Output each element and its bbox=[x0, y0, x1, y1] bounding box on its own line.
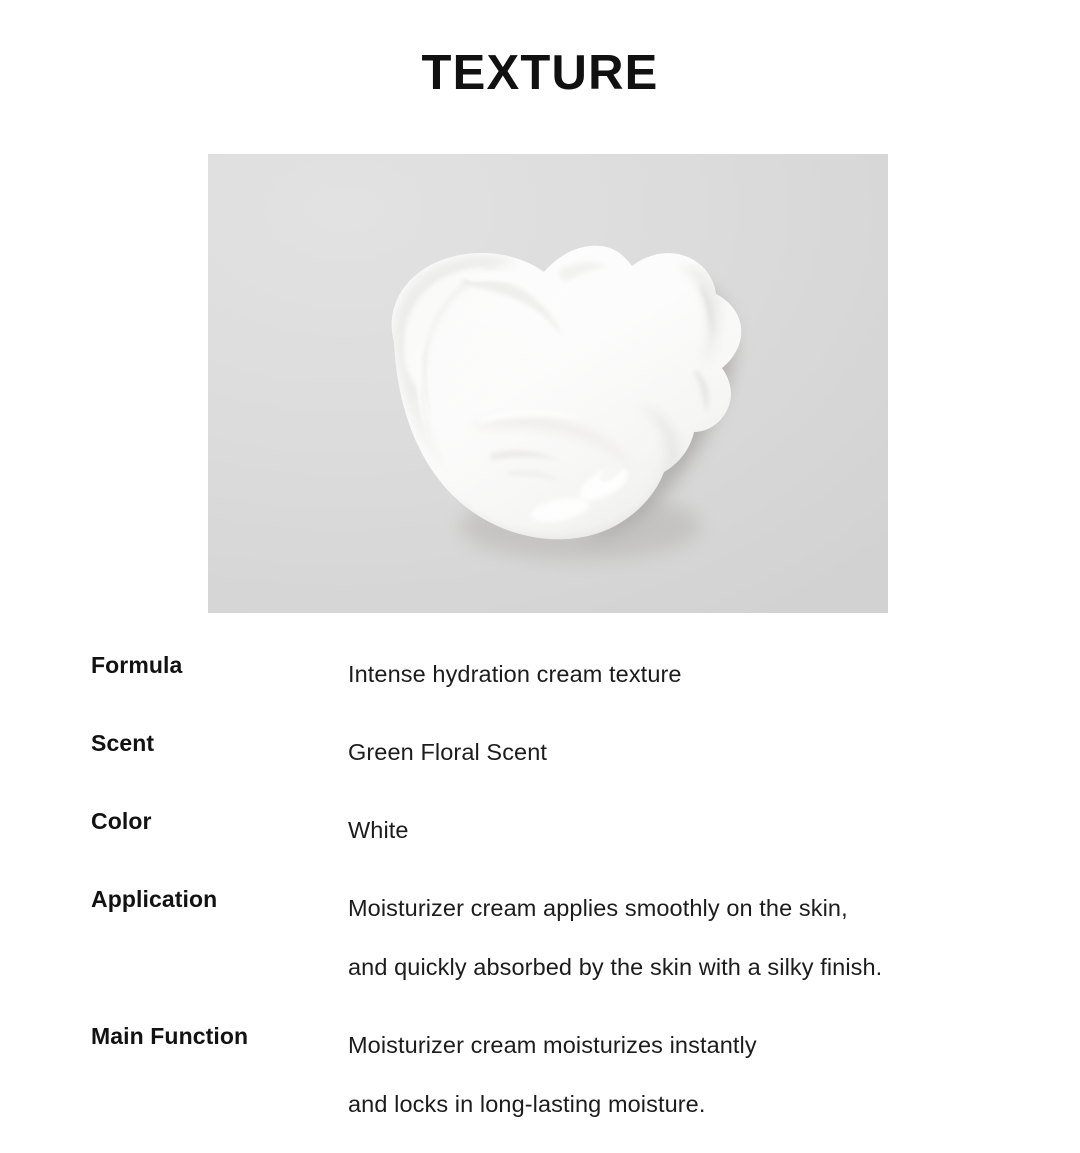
spec-value-line: and locks in long-lasting moisture. bbox=[348, 1075, 1031, 1134]
table-row: Color White bbox=[91, 801, 1031, 860]
cream-swatch-illustration bbox=[208, 154, 888, 613]
spec-table: Formula Intense hydration cream texture … bbox=[91, 645, 1031, 1153]
spec-label-color: Color bbox=[91, 801, 348, 841]
spec-label-scent: Scent bbox=[91, 723, 348, 763]
spec-value-scent: Green Floral Scent bbox=[348, 723, 1031, 782]
page-title: TEXTURE bbox=[0, 48, 1080, 99]
table-row: Formula Intense hydration cream texture bbox=[91, 645, 1031, 704]
spec-value-line: Moisturizer cream moisturizes instantly bbox=[348, 1016, 1031, 1075]
spec-label-formula: Formula bbox=[91, 645, 348, 685]
spec-value-line: White bbox=[348, 801, 1031, 860]
table-row: Main Function Moisturizer cream moisturi… bbox=[91, 1016, 1031, 1134]
spec-label-application: Application bbox=[91, 879, 348, 919]
table-row: Application Moisturizer cream applies sm… bbox=[91, 879, 1031, 997]
spec-value-application: Moisturizer cream applies smoothly on th… bbox=[348, 879, 1031, 997]
spec-label-main-function: Main Function bbox=[91, 1016, 348, 1056]
spec-value-color: White bbox=[348, 801, 1031, 860]
spec-value-line: and quickly absorbed by the skin with a … bbox=[348, 938, 1031, 997]
spec-value-formula: Intense hydration cream texture bbox=[348, 645, 1031, 704]
product-texture-photo bbox=[208, 154, 888, 613]
texture-product-page: TEXTURE bbox=[0, 0, 1080, 1080]
table-row: Scent Green Floral Scent bbox=[91, 723, 1031, 782]
spec-value-main-function: Moisturizer cream moisturizes instantly … bbox=[348, 1016, 1031, 1134]
spec-value-line: Green Floral Scent bbox=[348, 723, 1031, 782]
spec-value-line: Moisturizer cream applies smoothly on th… bbox=[348, 879, 1031, 938]
spec-value-line: Intense hydration cream texture bbox=[348, 645, 1031, 704]
